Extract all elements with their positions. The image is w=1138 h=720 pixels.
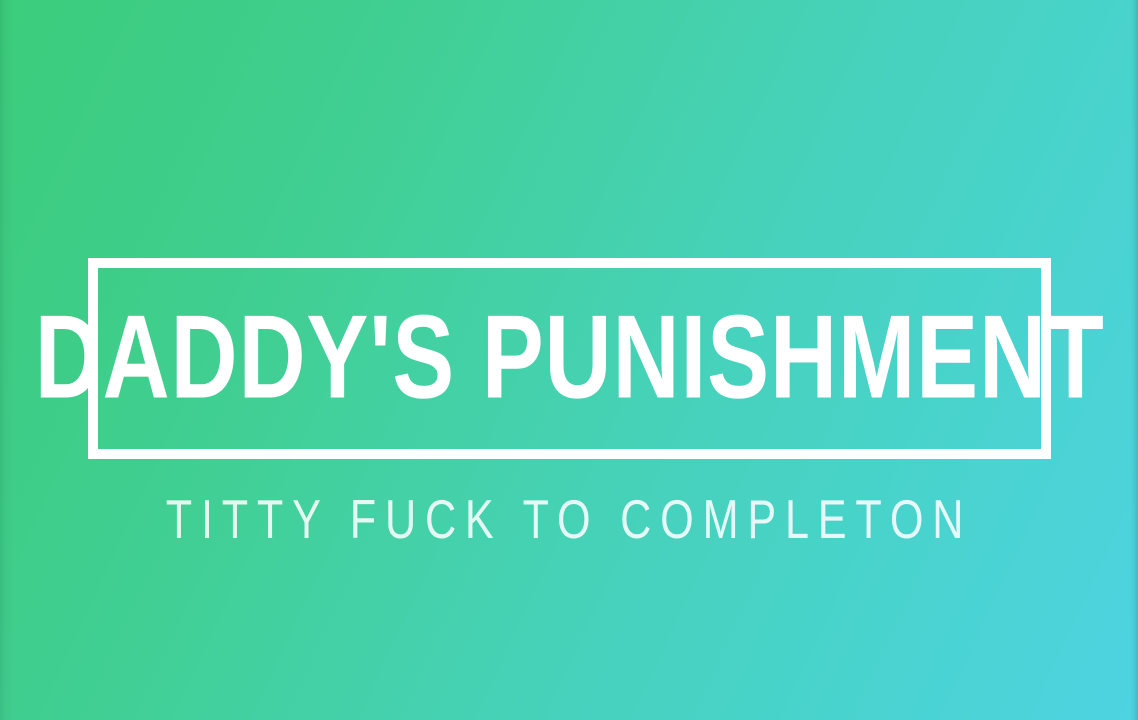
left-edge-artifact <box>0 0 14 720</box>
title-frame-border: DADDY'S PUNISHMENT <box>88 258 1051 459</box>
subtitle-text: TITTY FUCK TO COMPLETON <box>114 492 1024 547</box>
title-text: DADDY'S PUNISHMENT <box>35 297 1105 416</box>
video-title-card: DADDY'S PUNISHMENT TITTY FUCK TO COMPLET… <box>0 0 1138 720</box>
right-edge-artifact <box>1130 0 1138 720</box>
